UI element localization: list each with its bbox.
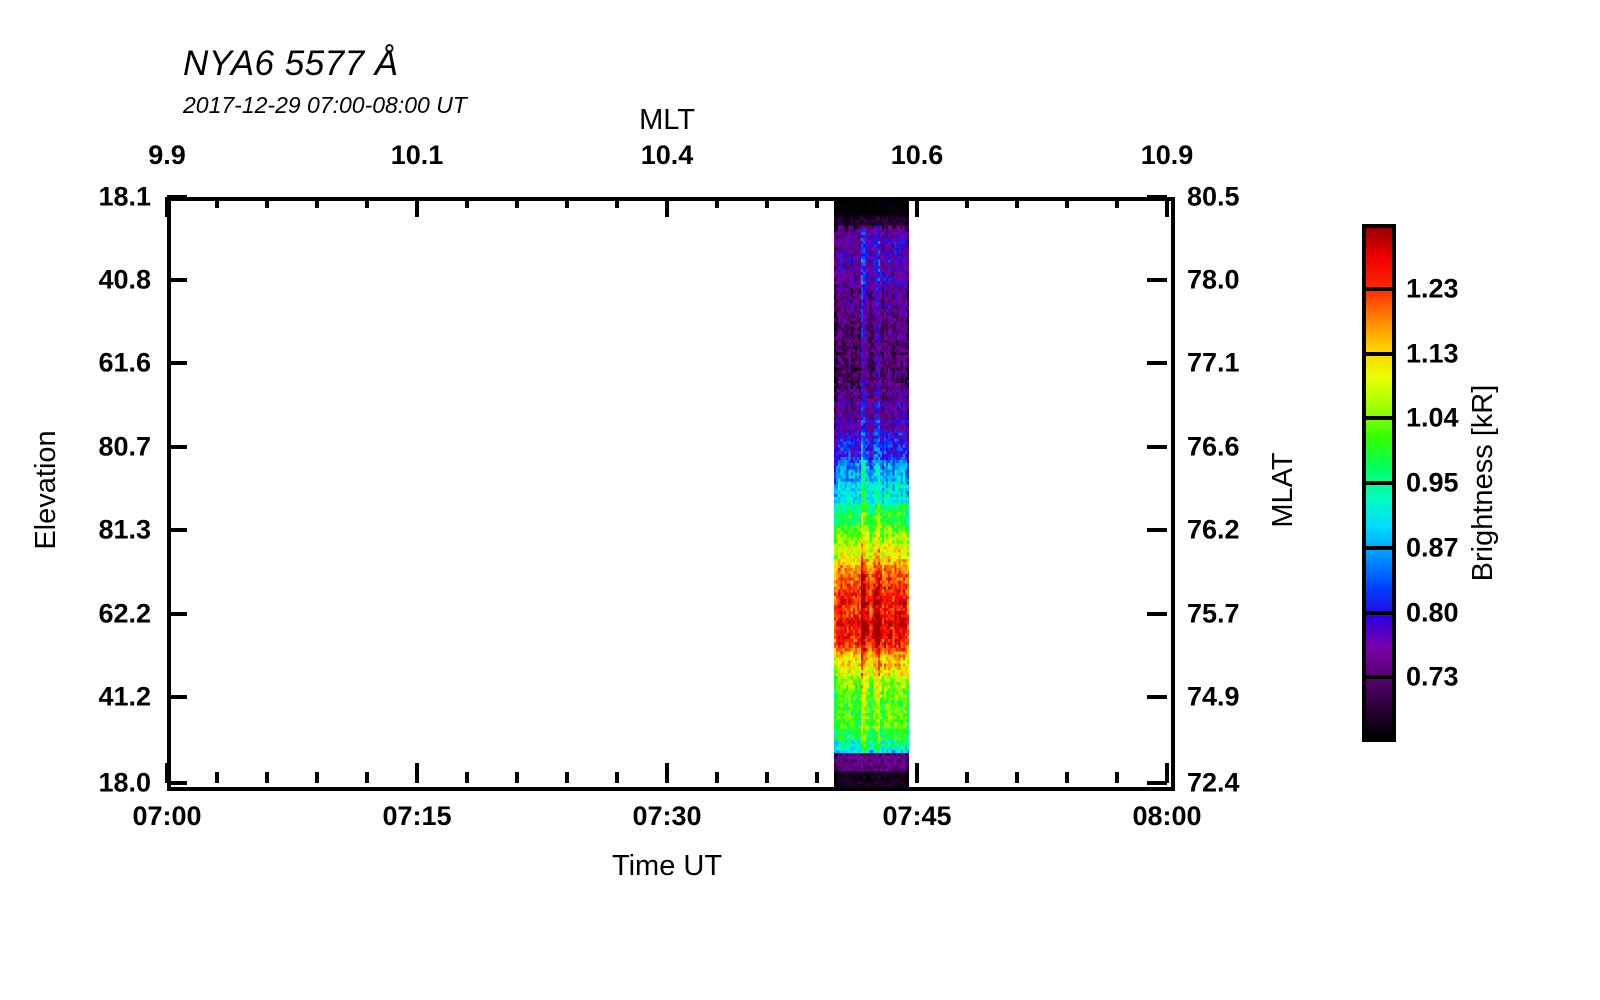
x-minor-tick-top-5 [515, 197, 519, 208]
x-major-tick-bottom-3 [915, 763, 919, 783]
elevation-tick-label-2: 61.6 [98, 348, 151, 379]
mlat-tick-label-1: 78.0 [1187, 265, 1240, 296]
x-minor-tick-top-8 [715, 197, 719, 208]
x-minor-tick-bottom-13 [1015, 772, 1019, 783]
mlat-tick-label-3: 76.6 [1187, 432, 1240, 463]
x-major-tick-top-2 [665, 197, 669, 217]
y-major-tick-right-7 [1147, 781, 1167, 785]
colorbar-separator-7 [1362, 675, 1396, 679]
colorbar-separator-5 [1362, 546, 1396, 550]
mlat-tick-label-0: 80.5 [1187, 182, 1240, 213]
x-minor-tick-bottom-12 [965, 772, 969, 783]
mlt-tick-label-4: 10.9 [1141, 140, 1194, 171]
colorbar-tick-label-0: 1.23 [1406, 273, 1459, 304]
x-tick-label-3: 07:45 [882, 801, 951, 832]
x-minor-tick-top-9 [765, 197, 769, 208]
x-minor-tick-top-13 [1015, 197, 1019, 208]
y-major-tick-left-1 [167, 278, 187, 282]
elevation-tick-label-6: 41.2 [98, 681, 151, 712]
y-major-tick-left-5 [167, 612, 187, 616]
y-major-tick-left-7 [167, 781, 187, 785]
keogram-plot-area [171, 201, 1171, 787]
colorbar-tick-label-5: 0.80 [1406, 597, 1459, 628]
x-minor-tick-bottom-6 [565, 772, 569, 783]
colorbar-tick-label-2: 1.04 [1406, 403, 1459, 434]
x-minor-tick-top-10 [815, 197, 819, 208]
axis-title-mlt: MLT [639, 104, 695, 137]
x-minor-tick-bottom-8 [715, 772, 719, 783]
x-minor-tick-top-0 [215, 197, 219, 208]
x-tick-label-1: 07:15 [382, 801, 451, 832]
x-minor-tick-top-11 [865, 197, 869, 208]
elevation-tick-label-5: 62.2 [98, 598, 151, 629]
page-subtitle: 2017-12-29 07:00-08:00 UT [183, 92, 467, 119]
x-tick-label-2: 07:30 [632, 801, 701, 832]
x-major-tick-top-1 [415, 197, 419, 217]
colorbar-separator-4 [1362, 481, 1396, 485]
x-minor-tick-bottom-2 [315, 772, 319, 783]
x-minor-tick-top-4 [465, 197, 469, 208]
colorbar-separator-3 [1362, 416, 1396, 420]
x-minor-tick-bottom-1 [265, 772, 269, 783]
colorbar-tick-label-1: 1.13 [1406, 338, 1459, 369]
mlt-tick-label-1: 10.1 [391, 140, 444, 171]
x-minor-tick-top-6 [565, 197, 569, 208]
mlat-tick-label-7: 72.4 [1187, 768, 1240, 799]
y-major-tick-right-1 [1147, 278, 1167, 282]
x-major-tick-bottom-2 [665, 763, 669, 783]
x-minor-tick-bottom-9 [765, 772, 769, 783]
mlat-tick-label-6: 74.9 [1187, 681, 1240, 712]
y-major-tick-right-4 [1147, 528, 1167, 532]
elevation-tick-label-3: 80.7 [98, 432, 151, 463]
x-minor-tick-top-12 [965, 197, 969, 208]
x-major-tick-top-0 [165, 197, 169, 217]
x-tick-label-4: 08:00 [1132, 801, 1201, 832]
x-minor-tick-top-14 [1065, 197, 1069, 208]
colorbar-tick-label-6: 0.73 [1406, 662, 1459, 693]
colorbar: 1.231.131.040.950.870.800.73 [1362, 224, 1396, 742]
x-minor-tick-top-3 [365, 197, 369, 208]
x-minor-tick-bottom-3 [365, 772, 369, 783]
x-minor-tick-top-1 [265, 197, 269, 208]
axis-title-time: Time UT [612, 850, 722, 883]
x-major-tick-top-3 [915, 197, 919, 217]
page-title: NYA6 5577 Å [183, 44, 399, 84]
colorbar-separator-2 [1362, 352, 1396, 356]
x-minor-tick-bottom-15 [1115, 772, 1119, 783]
x-minor-tick-bottom-14 [1065, 772, 1069, 783]
x-minor-tick-bottom-7 [615, 772, 619, 783]
mlt-tick-label-3: 10.6 [891, 140, 944, 171]
x-major-tick-bottom-1 [415, 763, 419, 783]
colorbar-tick-label-3: 0.95 [1406, 468, 1459, 499]
elevation-tick-label-0: 18.1 [98, 182, 151, 213]
axis-title-elevation: Elevation [30, 430, 63, 549]
y-major-tick-right-0 [1147, 195, 1167, 199]
keogram-data-raster [834, 201, 909, 787]
x-minor-tick-bottom-5 [515, 772, 519, 783]
colorbar-tick-label-4: 0.87 [1406, 532, 1459, 563]
elevation-tick-label-1: 40.8 [98, 265, 151, 296]
mlt-tick-label-0: 9.9 [148, 140, 186, 171]
axis-title-mlat: MLAT [1267, 452, 1300, 527]
y-major-tick-right-2 [1147, 361, 1167, 365]
mlat-tick-label-4: 76.2 [1187, 515, 1240, 546]
x-minor-tick-top-15 [1115, 197, 1119, 208]
y-major-tick-left-0 [167, 195, 187, 199]
colorbar-title: Brightness [kR] [1467, 385, 1500, 582]
y-major-tick-left-4 [167, 528, 187, 532]
x-minor-tick-bottom-10 [815, 772, 819, 783]
y-major-tick-left-6 [167, 695, 187, 699]
y-major-tick-right-3 [1147, 445, 1167, 449]
x-major-tick-bottom-0 [165, 763, 169, 783]
mlat-tick-label-5: 75.7 [1187, 598, 1240, 629]
colorbar-separator-1 [1362, 287, 1396, 291]
elevation-tick-label-7: 18.0 [98, 768, 151, 799]
x-major-tick-top-4 [1165, 197, 1169, 217]
y-major-tick-left-2 [167, 361, 187, 365]
keogram-plot-frame [167, 197, 1175, 791]
mlat-tick-label-2: 77.1 [1187, 348, 1240, 379]
mlt-tick-label-2: 10.4 [641, 140, 694, 171]
x-major-tick-bottom-4 [1165, 763, 1169, 783]
y-major-tick-right-6 [1147, 695, 1167, 699]
colorbar-separator-6 [1362, 611, 1396, 615]
elevation-tick-label-4: 81.3 [98, 515, 151, 546]
y-major-tick-right-5 [1147, 612, 1167, 616]
y-major-tick-left-3 [167, 445, 187, 449]
x-minor-tick-top-2 [315, 197, 319, 208]
x-minor-tick-top-7 [615, 197, 619, 208]
x-minor-tick-bottom-4 [465, 772, 469, 783]
x-tick-label-0: 07:00 [132, 801, 201, 832]
x-minor-tick-bottom-11 [865, 772, 869, 783]
x-minor-tick-bottom-0 [215, 772, 219, 783]
